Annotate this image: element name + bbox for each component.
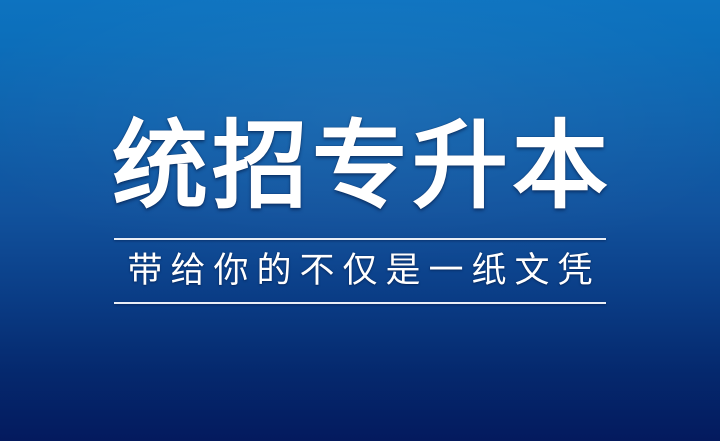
subtitle-rule-bottom — [114, 302, 606, 304]
banner-content: 统招专升本 带给你的不仅是一纸文凭 — [0, 0, 720, 441]
promo-banner: 统招专升本 带给你的不仅是一纸文凭 — [0, 0, 720, 441]
banner-subtitle-block: 带给你的不仅是一纸文凭 — [114, 238, 606, 304]
banner-title: 统招专升本 — [108, 117, 612, 217]
banner-subtitle: 带给你的不仅是一纸文凭 — [119, 240, 600, 302]
